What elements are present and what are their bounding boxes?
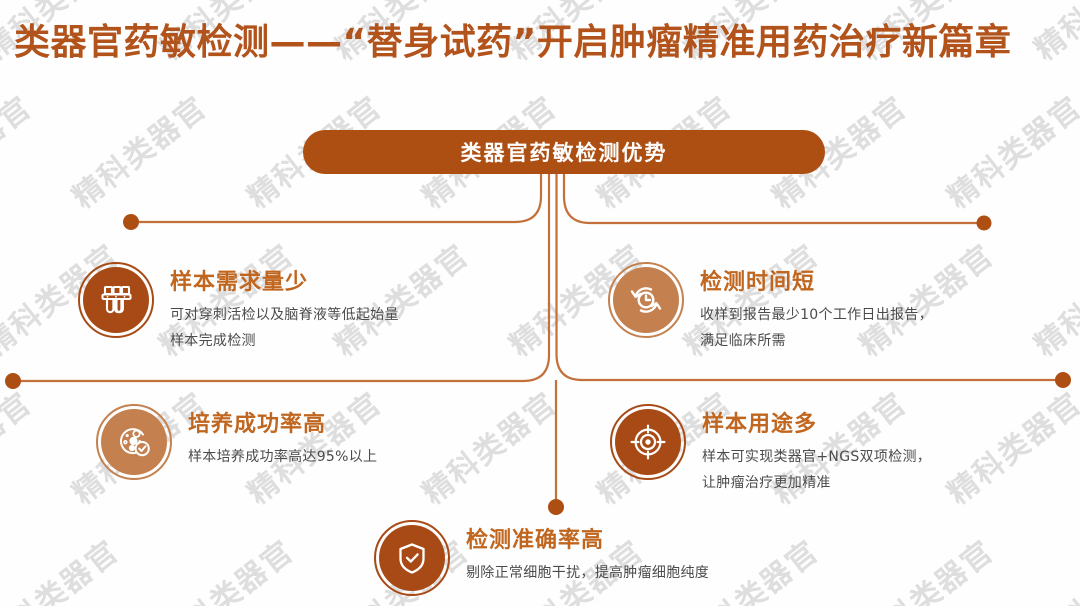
card-desc-line: 样本培养成功率高达95%以上: [188, 445, 377, 471]
card-desc-line: 收样到报告最少10个工作日出报告，: [700, 303, 933, 329]
card-description: 样本培养成功率高达95%以上: [188, 445, 377, 471]
card-description: 剔除正常细胞干扰，提高肿瘤细胞纯度: [466, 561, 709, 587]
card-desc-line: 让肿瘤治疗更加精准: [702, 471, 931, 497]
card-title: 样本需求量少: [170, 264, 399, 296]
advantages-banner-label: 类器官药敏检测优势: [461, 137, 668, 167]
infographic-canvas: 精科类器官精科类器官精科类器官精科类器官精科类器官精科类器官精科类器官精科类器官…: [0, 0, 1080, 606]
connector-top-left: [133, 174, 541, 222]
card-text: 检测时间短 收样到报告最少10个工作日出报告， 满足临床所需: [700, 262, 933, 355]
dot-top-left: [123, 214, 139, 230]
dot-mid-left: [5, 373, 21, 389]
card-detection-accuracy: 检测准确率高 剔除正常细胞干扰，提高肿瘤细胞纯度: [374, 520, 709, 596]
card-sample-usage: 样本用途多 样本可实现类器官+NGS双项检测， 让肿瘤治疗更加精准: [610, 404, 931, 497]
advantages-banner: 类器官药敏检测优势: [303, 130, 825, 174]
card-text: 培养成功率高 样本培养成功率高达95%以上: [188, 404, 377, 471]
card-title: 检测准确率高: [466, 522, 709, 554]
card-desc-line: 样本完成检测: [170, 329, 399, 355]
card-icon-wrap: [608, 262, 684, 338]
card-detection-time: 检测时间短 收样到报告最少10个工作日出报告， 满足临床所需: [608, 262, 933, 355]
card-sample-requirement: 样本需求量少 可对穿刺活检以及脑脊液等低起始量 样本完成检测: [78, 262, 399, 355]
clock-refresh-icon: [613, 267, 679, 333]
card-description: 样本可实现类器官+NGS双项检测， 让肿瘤治疗更加精准: [702, 445, 931, 497]
card-icon-wrap: [78, 262, 154, 338]
shield-check-icon: [379, 525, 445, 591]
dot-top-right: [977, 216, 992, 231]
card-culture-success-rate: 培养成功率高 样本培养成功率高达95%以上: [96, 404, 377, 480]
card-icon-wrap: [374, 520, 450, 596]
connector-top-right: [564, 174, 982, 223]
card-icon-wrap: [610, 404, 686, 480]
card-text: 检测准确率高 剔除正常细胞干扰，提高肿瘤细胞纯度: [466, 520, 709, 587]
card-title: 检测时间短: [700, 264, 933, 296]
card-icon-wrap: [96, 404, 172, 480]
card-desc-line: 满足临床所需: [700, 329, 933, 355]
test-tubes-icon: [83, 267, 149, 333]
dot-mid-right: [1055, 372, 1071, 388]
card-description: 收样到报告最少10个工作日出报告， 满足临床所需: [700, 303, 933, 355]
target-crosshair-icon: [615, 409, 681, 475]
card-text: 样本需求量少 可对穿刺活检以及脑脊液等低起始量 样本完成检测: [170, 262, 399, 355]
card-desc-line: 可对穿刺活检以及脑脊液等低起始量: [170, 303, 399, 329]
card-text: 样本用途多 样本可实现类器官+NGS双项检测， 让肿瘤治疗更加精准: [702, 404, 931, 497]
page-title: 类器官药敏检测——“替身试药”开启肿瘤精准用药治疗新篇章: [14, 22, 1070, 63]
card-desc-line: 剔除正常细胞干扰，提高肿瘤细胞纯度: [466, 561, 709, 587]
dot-bottom: [548, 499, 564, 515]
card-title: 培养成功率高: [188, 406, 377, 438]
card-description: 可对穿刺活检以及脑脊液等低起始量 样本完成检测: [170, 303, 399, 355]
card-title: 样本用途多: [702, 406, 931, 438]
card-desc-line: 样本可实现类器官+NGS双项检测，: [702, 445, 931, 471]
cell-culture-check-icon: [101, 409, 167, 475]
